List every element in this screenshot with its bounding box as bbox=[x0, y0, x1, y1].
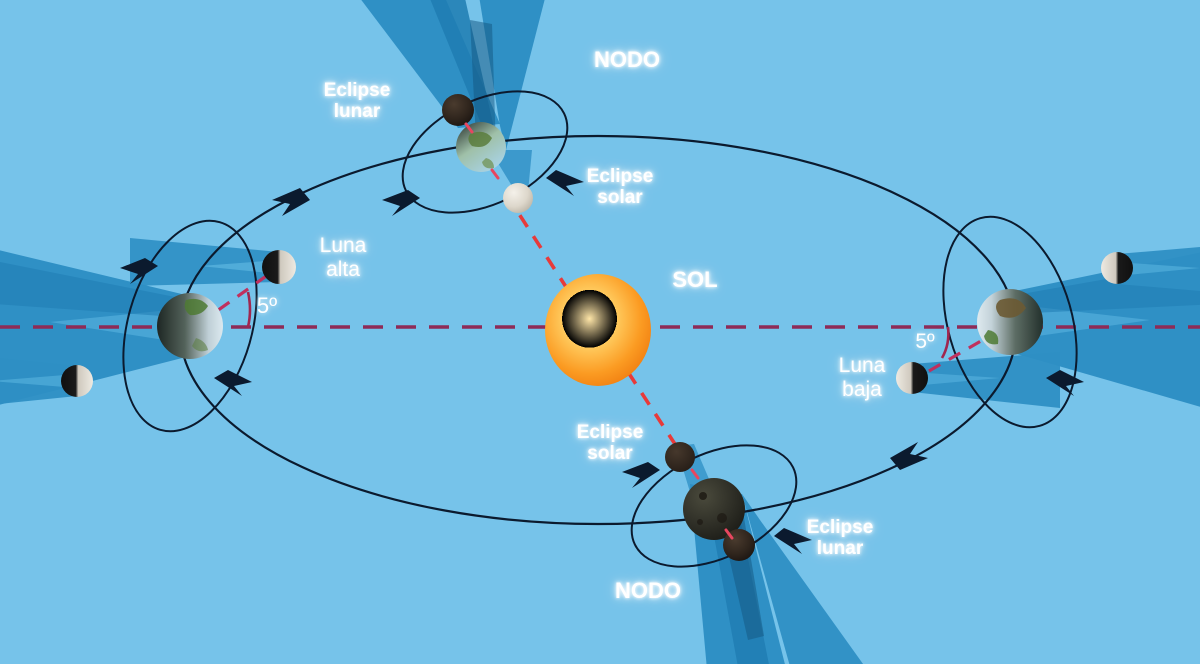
sun-body bbox=[545, 274, 651, 386]
eclipse-ray-top bbox=[512, 203, 568, 290]
moon-top-lunar-eclipse bbox=[442, 94, 474, 126]
earth-top-shadow-cone bbox=[316, 0, 560, 150]
diagram-canvas bbox=[0, 0, 1200, 664]
moon-left-low bbox=[61, 365, 93, 397]
angle-arc-left bbox=[248, 292, 250, 327]
moon-luna-baja bbox=[896, 362, 928, 394]
earth-right bbox=[977, 289, 1043, 355]
moon-luna-alta bbox=[262, 250, 296, 284]
moon-luna-baja-shadow-cone bbox=[912, 352, 1060, 408]
moon-top-solar-eclipse bbox=[503, 183, 533, 213]
angle-arc-right bbox=[942, 327, 948, 358]
earth-top bbox=[456, 122, 506, 172]
earth-left bbox=[157, 293, 223, 359]
moon-right-high bbox=[1101, 252, 1133, 284]
moon-bottom-solar bbox=[665, 442, 695, 472]
eclipse-diagram: NODO Eclipse lunar Eclipse solar SOL Lun… bbox=[0, 0, 1200, 664]
